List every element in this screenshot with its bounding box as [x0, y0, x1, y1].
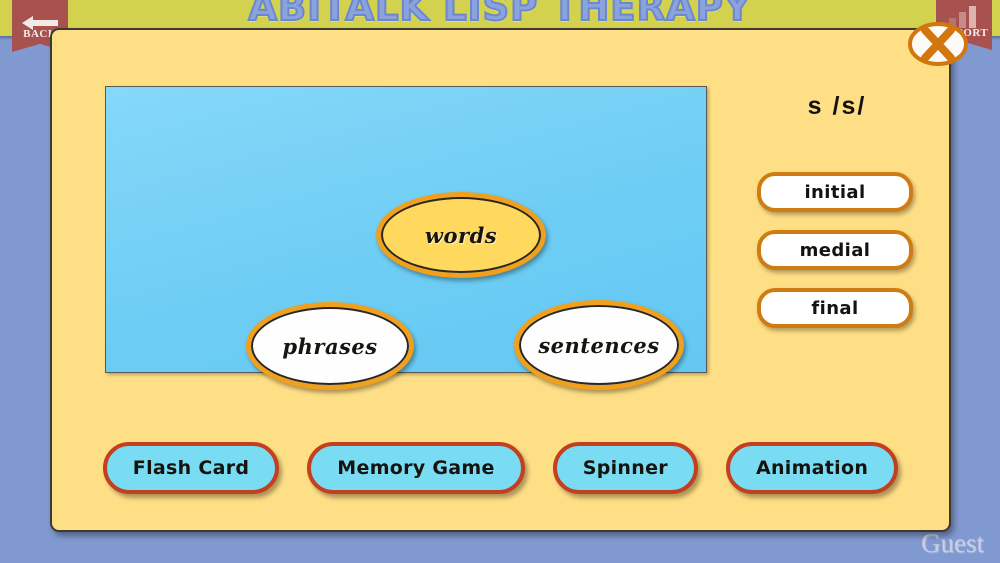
level-oval-words[interactable]: words	[376, 192, 546, 278]
position-button-medial[interactable]: medial	[757, 230, 913, 270]
level-oval-words-label: words	[425, 223, 497, 248]
practice-level-panel: words phrases sentences	[105, 86, 707, 373]
app-title: ABITALK LISP THERAPY	[0, 0, 1000, 29]
position-button-final-label: final	[811, 298, 858, 319]
level-oval-sentences[interactable]: sentences	[514, 300, 684, 390]
position-button-initial-label: initial	[804, 182, 865, 203]
activity-button-flash-card-label: Flash Card	[133, 457, 250, 479]
activity-button-animation[interactable]: Animation	[726, 442, 898, 494]
activity-button-spinner[interactable]: Spinner	[553, 442, 698, 494]
level-oval-phrases[interactable]: phrases	[246, 302, 414, 390]
target-sound-label: s /s/	[742, 92, 932, 121]
therapy-options-dialog: words phrases sentences s /s/ initial me…	[50, 28, 951, 532]
position-button-medial-label: medial	[800, 240, 871, 261]
level-oval-phrases-label: phrases	[282, 334, 377, 359]
activity-button-memory-game-label: Memory Game	[337, 457, 494, 479]
level-oval-sentences-label: sentences	[538, 333, 659, 358]
activity-button-animation-label: Animation	[756, 457, 868, 479]
activity-button-memory-game[interactable]: Memory Game	[307, 442, 524, 494]
current-user-label: Guest	[921, 528, 984, 559]
close-x-icon[interactable]	[907, 22, 969, 66]
position-button-final[interactable]: final	[757, 288, 913, 328]
activity-button-flash-card[interactable]: Flash Card	[103, 442, 280, 494]
position-button-initial[interactable]: initial	[757, 172, 913, 212]
activity-button-row: Flash Card Memory Game Spinner Animation	[52, 442, 949, 494]
activity-button-spinner-label: Spinner	[583, 457, 668, 479]
